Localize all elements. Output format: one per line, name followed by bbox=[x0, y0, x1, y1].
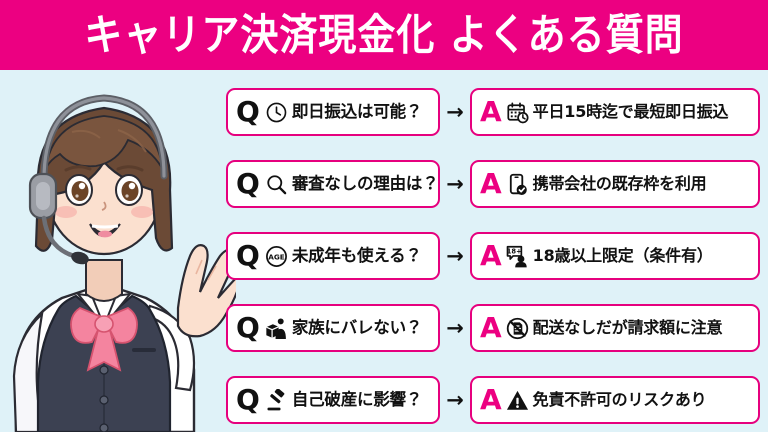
gavel-icon bbox=[265, 389, 288, 412]
page-title: キャリア決済現金化 よくある質問 bbox=[84, 14, 683, 57]
warning-triangle-icon bbox=[506, 389, 529, 412]
answer-box-4[interactable]: A 配送なしだが請求額に注意 bbox=[470, 304, 760, 352]
arrow-icon: → bbox=[440, 102, 470, 123]
a-letter: A bbox=[480, 314, 502, 342]
faq-row: Q 審査なしの理由は？ → A 携帯会社の既存枠を利用 bbox=[226, 158, 768, 210]
delivery-person-box-icon bbox=[265, 317, 288, 340]
clock-icon bbox=[265, 101, 288, 124]
answer-box-5[interactable]: A 免責不許可のリスクあり bbox=[470, 376, 760, 424]
a-letter: A bbox=[480, 98, 502, 126]
question-text: 家族にバレない？ bbox=[292, 320, 422, 337]
a-letter: A bbox=[480, 386, 502, 414]
svg-text:18+: 18+ bbox=[506, 247, 521, 255]
faq-row: Q 家族にバレない？ → A 配送なしだが請求額に注意 bbox=[226, 302, 768, 354]
arrow-icon: → bbox=[440, 318, 470, 339]
answer-box-1[interactable]: A 平日15時迄で最短即日振込 bbox=[470, 88, 760, 136]
faq-infographic: キャリア決済現金化 よくある質問 bbox=[0, 0, 768, 432]
eighteen-plus-person-icon: 18+ bbox=[506, 245, 529, 268]
question-box-3[interactable]: Q AGE 未成年も使える？ bbox=[226, 232, 440, 280]
answer-text: 免責不許可のリスクあり bbox=[533, 392, 707, 408]
question-text: 審査なしの理由は？ bbox=[292, 176, 439, 193]
a-letter: A bbox=[480, 170, 502, 198]
faq-row: Q 自己破産に影響？ → A 免責不許可のリスクあり bbox=[226, 374, 768, 426]
a-letter: A bbox=[480, 242, 502, 270]
calendar-clock-icon bbox=[506, 101, 529, 124]
vest-button-2 bbox=[100, 396, 108, 404]
faq-row: Q AGE 未成年も使える？ → A 18+ 18歳以上限定（条件有） bbox=[226, 230, 768, 282]
answer-text: 18歳以上限定（条件有） bbox=[533, 248, 713, 264]
question-box-5[interactable]: Q 自己破産に影響？ bbox=[226, 376, 440, 424]
answer-text: 携帯会社の既存枠を利用 bbox=[533, 176, 707, 192]
magnifier-icon bbox=[265, 173, 288, 196]
q-letter: Q bbox=[236, 170, 260, 198]
vest-pocket bbox=[132, 348, 156, 352]
question-box-4[interactable]: Q 家族にバレない？ bbox=[226, 304, 440, 352]
smartphone-check-icon bbox=[506, 173, 529, 196]
answer-box-3[interactable]: A 18+ 18歳以上限定（条件有） bbox=[470, 232, 760, 280]
arrow-icon: → bbox=[440, 246, 470, 267]
no-document-icon bbox=[506, 317, 529, 340]
faq-row: Q 即日振込は可能？ → A bbox=[226, 86, 768, 138]
q-letter: Q bbox=[236, 98, 260, 126]
question-text: 自己破産に影響？ bbox=[292, 392, 422, 409]
question-box-2[interactable]: Q 審査なしの理由は？ bbox=[226, 160, 440, 208]
header-banner: キャリア決済現金化 よくある質問 bbox=[0, 0, 768, 70]
answer-text: 配送なしだが請求額に注意 bbox=[533, 320, 723, 336]
answer-box-2[interactable]: A 携帯会社の既存枠を利用 bbox=[470, 160, 760, 208]
age-badge-icon: AGE bbox=[265, 245, 288, 268]
question-box-1[interactable]: Q 即日振込は可能？ bbox=[226, 88, 440, 136]
svg-text:AGE: AGE bbox=[268, 252, 285, 261]
arrow-icon: → bbox=[440, 390, 470, 411]
vest-button-3 bbox=[100, 424, 108, 432]
question-text: 未成年も使える？ bbox=[292, 248, 422, 265]
q-letter: Q bbox=[236, 242, 260, 270]
faq-rows: Q 即日振込は可能？ → A bbox=[226, 86, 768, 426]
q-letter: Q bbox=[236, 314, 260, 342]
arrow-icon: → bbox=[440, 174, 470, 195]
vest-button-1 bbox=[100, 366, 108, 374]
operator-illustration bbox=[0, 70, 236, 432]
answer-text: 平日15時迄で最短即日振込 bbox=[533, 104, 729, 120]
question-text: 即日振込は可能？ bbox=[292, 104, 422, 121]
q-letter: Q bbox=[236, 386, 260, 414]
